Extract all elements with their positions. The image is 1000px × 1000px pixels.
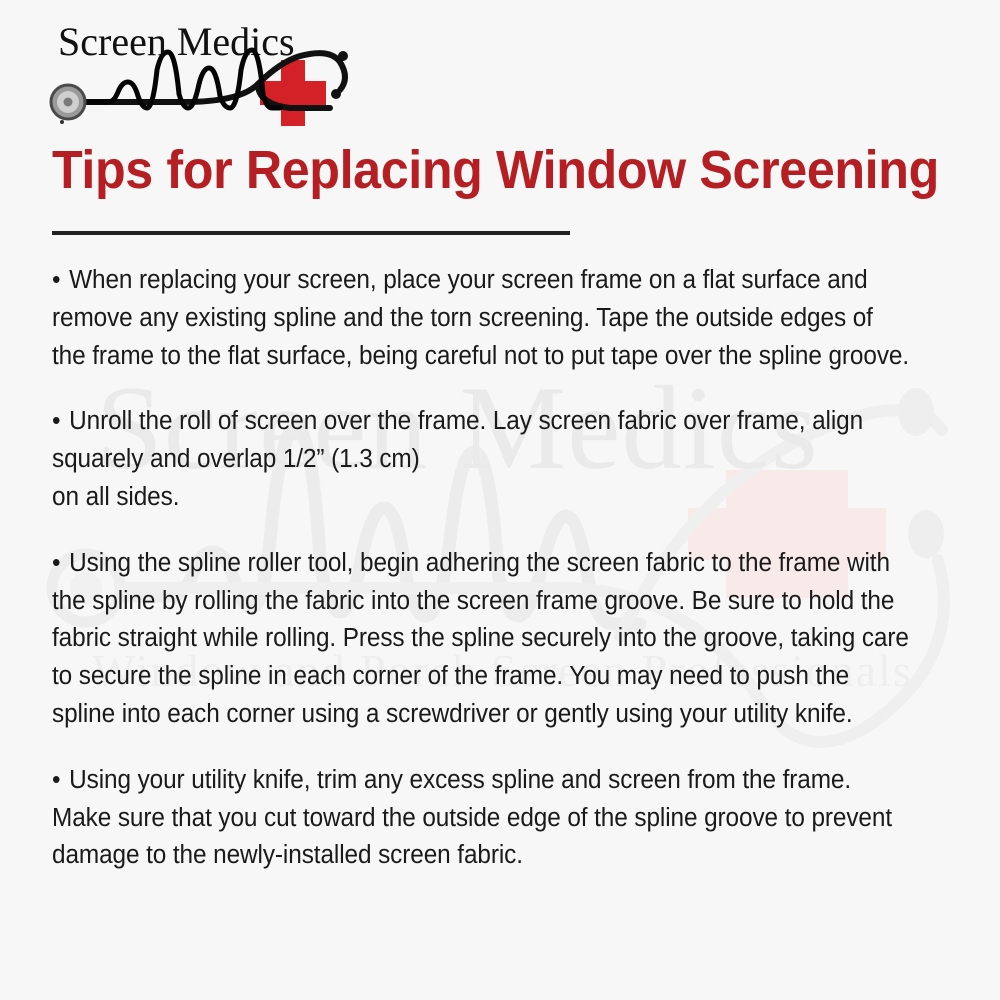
bullet-icon-3: • [52,549,62,577]
tip-text-1: When replacing your screen, place your s… [52,266,909,370]
tip-text-2-line-1: Unroll the roll of screen over the frame… [52,407,863,473]
tip-paragraph-3: • Using the spline roller tool, begin ad… [52,545,912,734]
logo-graphic [44,22,364,126]
logo-stethoscope-chestpiece-icon [51,85,85,119]
tip-paragraph-4: • Using your utility knife, trim any exc… [52,762,912,875]
bullet-icon-2: • [52,407,62,435]
tip-text-3: Using the spline roller tool, begin adhe… [52,549,909,728]
page-title: Tips for Replacing Window Screening [52,142,889,198]
brand-logo: Screen Medics [44,22,364,126]
tip-text-4: Using your utility knife, trim any exces… [52,766,892,870]
content-layer: Tips for Replacing Window Screening • Wh… [0,0,1000,1000]
logo-earpiece-2-icon [331,89,341,99]
logo-dot-icon [60,120,64,124]
bullet-icon-4: • [52,766,62,794]
tip-paragraph-1: • When replacing your screen, place your… [52,262,912,375]
bullet-icon-1: • [52,266,62,294]
tip-paragraph-2: • Unroll the roll of screen over the fra… [52,403,912,516]
tips-list: • When replacing your screen, place your… [52,262,952,875]
logo-earpiece-icon [338,51,348,61]
tip-text-2-line-2: on all sides. [52,479,912,517]
infographic-page: Screen Medics Window and Porch Screen Pr… [0,0,1000,1000]
title-divider-rule [52,231,570,235]
